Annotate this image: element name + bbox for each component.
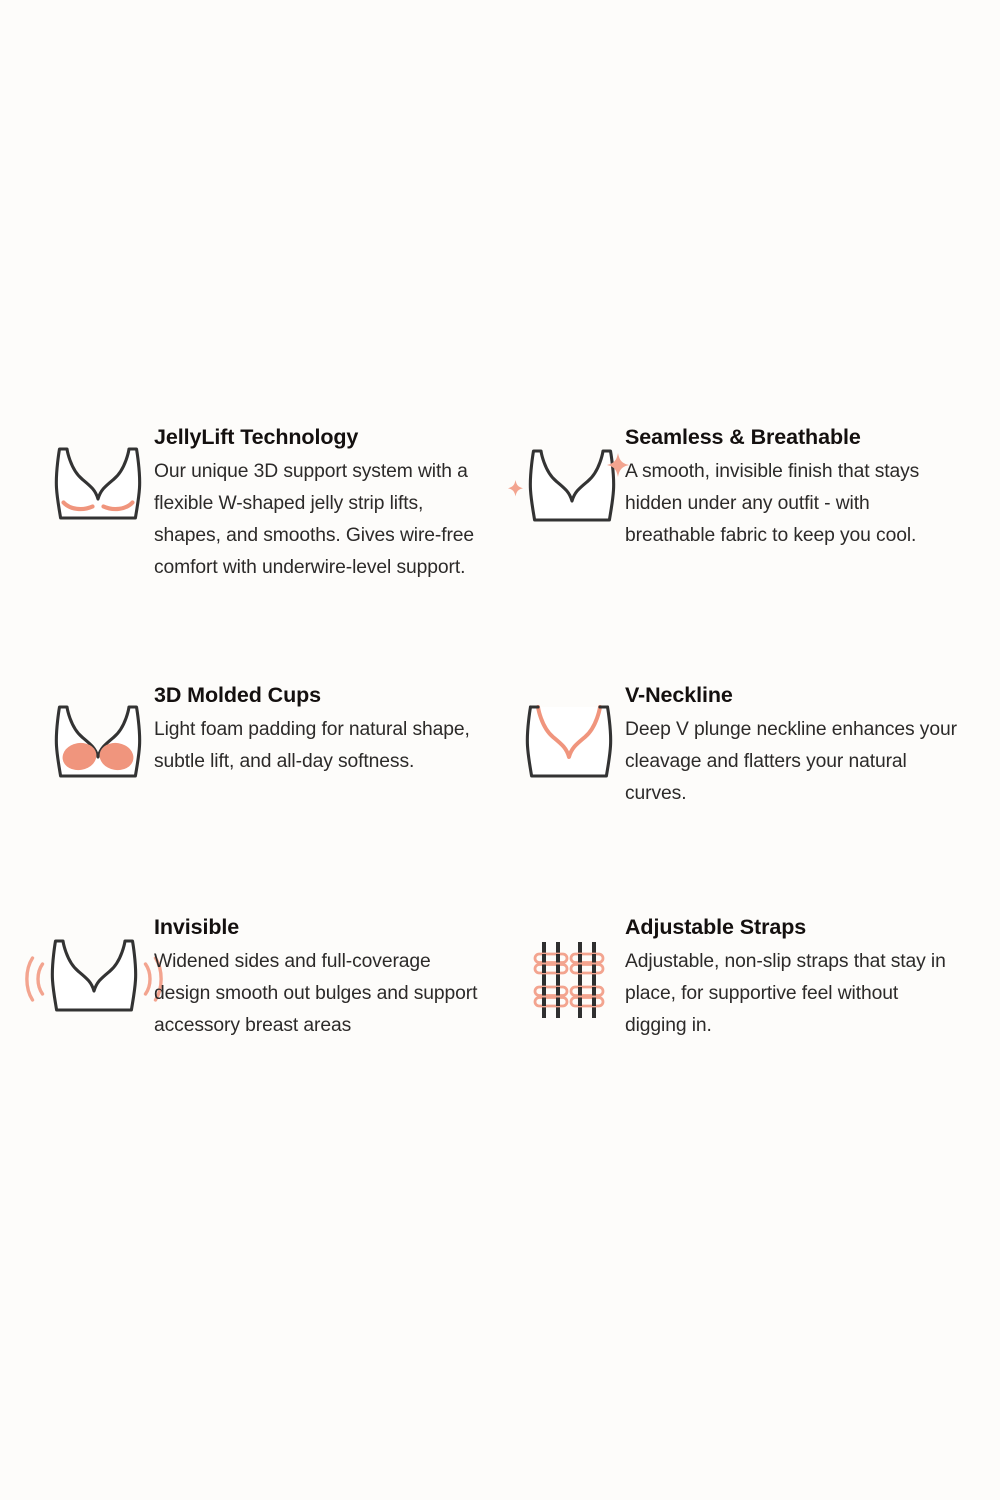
strap-adjuster xyxy=(535,987,567,996)
strap-adjuster xyxy=(535,954,567,963)
feature-title: Adjustable Straps xyxy=(625,914,961,941)
feature-title: V-Neckline xyxy=(625,682,961,709)
feature-card-v-neckline: V-Neckline Deep V plunge neckline enhanc… xyxy=(495,676,980,908)
bra-molded-cups-icon xyxy=(42,676,154,786)
bra-sparkle-icon xyxy=(513,418,625,528)
sparkle-small xyxy=(508,480,523,496)
strap-adjuster xyxy=(571,965,603,974)
bra-waves-icon xyxy=(42,908,154,1018)
strap-adjuster xyxy=(571,998,603,1007)
feature-description: Adjustable, non-slip straps that stay in… xyxy=(625,946,961,1042)
feature-description: Light foam padding for natural shape, su… xyxy=(154,714,478,778)
bra-v-neckline-icon xyxy=(513,676,625,786)
feature-title: Invisible xyxy=(154,914,478,941)
feature-text-block: 3D Molded Cups Light foam padding for na… xyxy=(154,676,478,778)
feature-card-seamless-breathable: Seamless & Breathable A smooth, invisibl… xyxy=(495,418,980,676)
adjustable-straps-icon xyxy=(513,908,625,1018)
wave-left-outer xyxy=(38,964,43,994)
strap-adjuster xyxy=(535,965,567,974)
feature-description: Our unique 3D support system with a flex… xyxy=(154,456,478,584)
feature-text-block: JellyLift Technology Our unique 3D suppo… xyxy=(154,418,478,584)
feature-text-block: Invisible Widened sides and full-coverag… xyxy=(154,908,478,1042)
strap-adjuster xyxy=(571,954,603,963)
feature-title: JellyLift Technology xyxy=(154,424,478,451)
strap-adjuster xyxy=(535,998,567,1007)
feature-title: 3D Molded Cups xyxy=(154,682,478,709)
feature-description: Deep V plunge neckline enhances your cle… xyxy=(625,714,961,810)
strap-adjuster xyxy=(571,987,603,996)
feature-text-block: V-Neckline Deep V plunge neckline enhanc… xyxy=(625,676,961,810)
feature-card-invisible: Invisible Widened sides and full-coverag… xyxy=(0,908,485,1108)
feature-card-adjustable-straps: Adjustable Straps Adjustable, non-slip s… xyxy=(495,908,980,1108)
feature-description: A smooth, invisible finish that stays hi… xyxy=(625,456,961,552)
feature-text-block: Adjustable Straps Adjustable, non-slip s… xyxy=(625,908,961,1042)
bra-jelly-strip-icon xyxy=(42,418,154,528)
feature-description: Widened sides and full-coverage design s… xyxy=(154,946,478,1042)
feature-title: Seamless & Breathable xyxy=(625,424,961,451)
feature-card-3d-molded-cups: 3D Molded Cups Light foam padding for na… xyxy=(0,676,485,908)
feature-text-block: Seamless & Breathable A smooth, invisibl… xyxy=(625,418,961,552)
feature-card-jellylift-technology: JellyLift Technology Our unique 3D suppo… xyxy=(0,418,485,676)
wave-left-inner xyxy=(27,958,33,1000)
product-features-page: JellyLift Technology Our unique 3D suppo… xyxy=(0,0,1000,1500)
features-grid: JellyLift Technology Our unique 3D suppo… xyxy=(0,418,1000,1108)
wave-right-outer xyxy=(146,964,151,994)
